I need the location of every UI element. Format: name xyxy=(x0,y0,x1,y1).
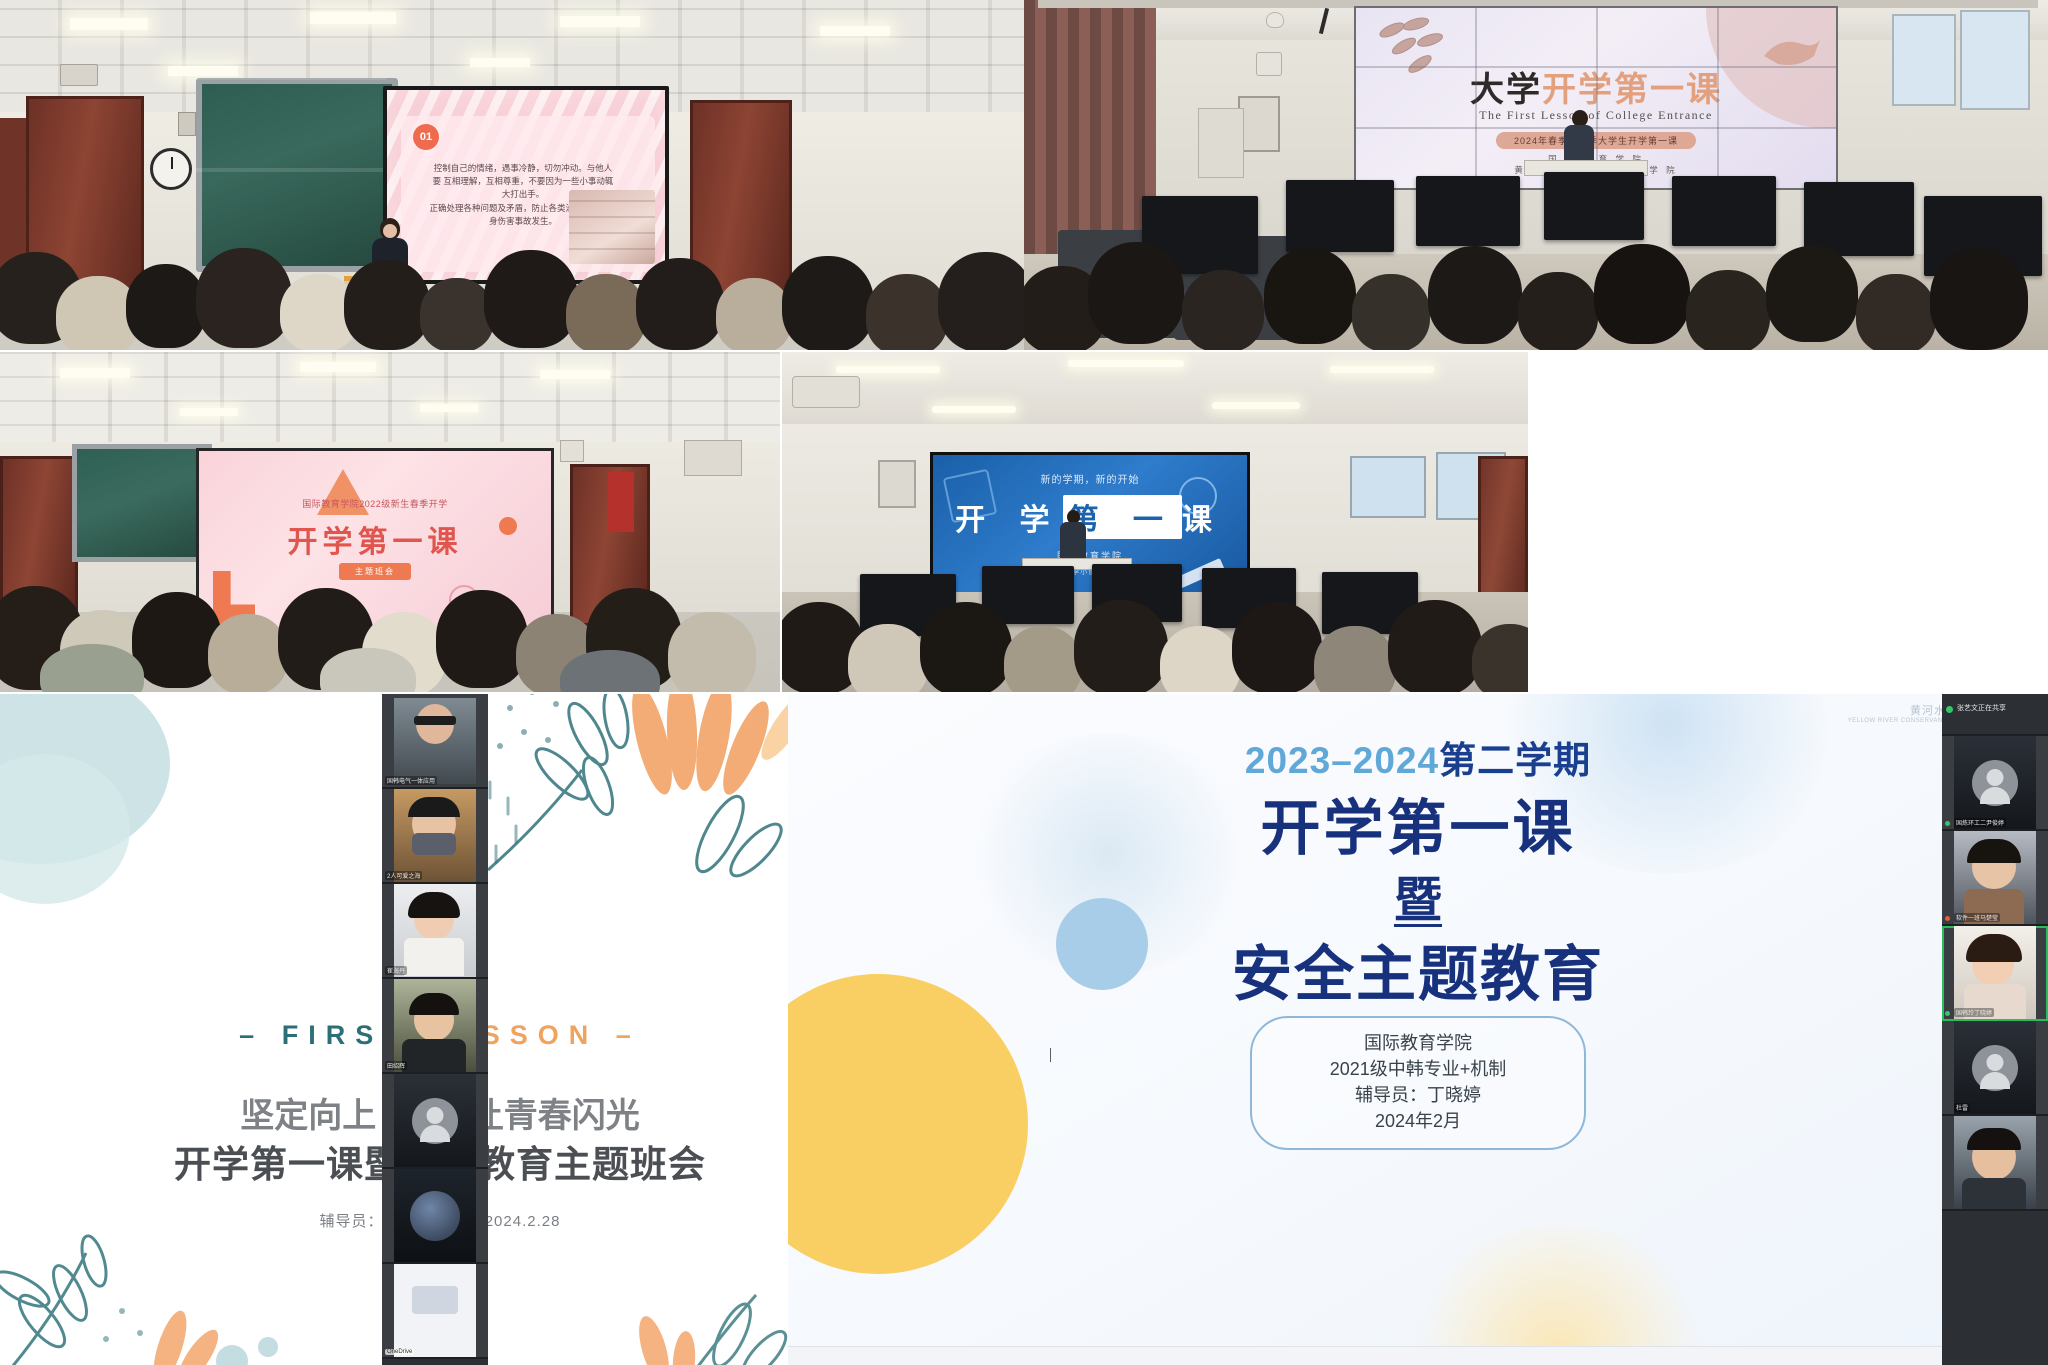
air-conditioner xyxy=(684,440,742,476)
slide-title-a: 开 学 xyxy=(955,504,1062,537)
participant-name: 田绍辉 xyxy=(385,1061,407,1070)
panel-computer-lab-led-wall: 大学开学第一课 The First Lesson of College Entr… xyxy=(1024,0,2048,350)
wall-switch xyxy=(178,112,196,136)
participant-name: 2人可爱之海 xyxy=(385,871,422,880)
photo-collage: 01 控制自己的情绪，遇事冷静，切勿冲动。与他人 要 互相理解，互相尊重，不要因… xyxy=(0,0,2048,1365)
ceiling-lamp xyxy=(70,18,148,30)
shared-screen-slide[interactable]: 黄河水利职业技术学院 YELLOW RIVER CONSERVANCY TECH… xyxy=(788,694,2048,1365)
avatar xyxy=(1972,760,2018,806)
presenter-figure xyxy=(1060,510,1086,560)
participant-name: 杜雷 xyxy=(1954,1103,1970,1112)
ceiling-lamp xyxy=(60,368,130,378)
wall-poster xyxy=(1350,456,1426,518)
curtain xyxy=(1024,0,1156,260)
slide-year-line: 2023–2024第二学期 xyxy=(788,730,2048,784)
slide-info-box: 国际教育学院 2021级中韩专业+机制 辅导员：丁晓婷 2024年2月 xyxy=(1250,1016,1586,1150)
participant-tile[interactable]: OneDrive xyxy=(382,1264,488,1359)
info-line: 辅导员：丁晓婷 xyxy=(1252,1082,1584,1108)
participant-name: 崔海丹 xyxy=(385,966,407,975)
panel-lecture-hall-pink-ppt: 01 控制自己的情绪，遇事冷静，切勿冲动。与他人 要 互相理解，互相尊重，不要因… xyxy=(0,0,1024,350)
ceiling-lamp xyxy=(470,58,530,67)
participant-tile[interactable] xyxy=(382,1074,488,1169)
ceiling-lamp xyxy=(540,370,610,379)
audience-crowd xyxy=(0,230,1024,350)
ceiling-lamp xyxy=(180,408,238,416)
circle-decor xyxy=(1398,1225,1718,1365)
ceiling-lamp xyxy=(420,404,478,412)
participant-name: 国炼环工二尹俊婷 xyxy=(1954,818,2006,827)
participant-tile[interactable]: 杜雷 xyxy=(1942,1021,2048,1116)
participant-name: 国韩玲丁晓婷 xyxy=(1954,1008,1994,1017)
ceiling-lamp xyxy=(300,362,376,372)
info-line: 2021级中韩专业+机制 xyxy=(1252,1056,1584,1082)
wall-cabinet xyxy=(1198,108,1244,178)
security-camera-icon xyxy=(1266,12,1284,28)
electrical-panel xyxy=(1238,96,1280,152)
audience-crowd xyxy=(1024,230,2048,350)
participant-filmstrip-right[interactable]: 张艺文正在共享 国炼环工二尹俊婷 软件一班马楚莹 xyxy=(1942,694,2048,1365)
mic-off-icon xyxy=(1945,916,1950,921)
kicker-prefix: – xyxy=(239,1020,264,1050)
slide-title-line1: 开学第一课 xyxy=(788,780,2048,867)
slide-title-line2-text: 暨 xyxy=(1394,874,1442,927)
participant-tile[interactable] xyxy=(1942,1116,2048,1211)
participant-tile[interactable]: 软件一班马楚莹 xyxy=(1942,831,2048,926)
slide-number-badge: 01 xyxy=(413,124,439,150)
participant-tile[interactable]: 2人可爱之海 xyxy=(382,789,488,884)
taskbar[interactable] xyxy=(788,1346,2048,1365)
wall-speaker xyxy=(1256,52,1282,76)
headline-left: 坚定向上 xyxy=(240,1097,376,1135)
slide-subtitle: 新的学期，新的开始 xyxy=(933,471,1247,486)
participant-tile[interactable]: 国韩电气一体应用 xyxy=(382,694,488,789)
term-label: 第二学期 xyxy=(1439,740,1591,781)
participant-tile[interactable]: 田绍辉 xyxy=(382,979,488,1074)
text-cursor-icon xyxy=(1050,1048,1051,1062)
participant-name: 国韩电气一体应用 xyxy=(385,776,437,785)
wall-poster xyxy=(1960,10,2030,110)
mic-on-icon xyxy=(1945,821,1950,826)
floral-decor-icon xyxy=(0,1161,302,1365)
circle-decor-yellow xyxy=(788,974,1028,1274)
panel-online-meeting: 国韩电气一体应用 2人可爱之海 崔海丹 田绍辉 xyxy=(382,694,2048,1365)
wall-poster xyxy=(1892,14,1956,106)
slide-title-line3: 安全主题教育 xyxy=(788,926,2048,1013)
ceiling-lamp xyxy=(560,16,640,27)
electrical-panel xyxy=(878,460,916,508)
sharing-label: 张艺文正在共享 xyxy=(1957,703,2006,713)
avatar xyxy=(1972,1045,2018,1091)
share-indicator-icon xyxy=(1946,706,1953,713)
slide-title-line2: 暨 xyxy=(788,860,2048,930)
cloud-icon xyxy=(412,1286,458,1314)
participant-tile[interactable]: 国炼环工二尹俊婷 xyxy=(1942,736,2048,831)
participant-tile[interactable]: 崔海丹 xyxy=(382,884,488,979)
ceiling-lamp xyxy=(820,26,890,36)
air-conditioner xyxy=(792,376,860,408)
blank-filler-area xyxy=(1528,352,2048,692)
wall-clock xyxy=(150,148,192,190)
ceiling-tile-lines xyxy=(0,352,780,448)
slide-line: 要 互相理解，互相尊重，不要因为一些小事动辄 xyxy=(415,175,631,188)
wall-speaker xyxy=(560,440,584,462)
slide-title: 开 学第 一课 xyxy=(933,495,1247,539)
green-chalkboard xyxy=(72,444,212,562)
participant-tile[interactable] xyxy=(382,1169,488,1264)
participant-name: 软件一班马楚莹 xyxy=(1954,913,2000,922)
participant-tile-active-speaker[interactable]: 国韩玲丁晓婷 xyxy=(1942,926,2048,1021)
wall-sign-red xyxy=(608,472,634,532)
slide-line: 控制自己的情绪，遇事冷静，切勿冲动。与他人 xyxy=(415,162,631,175)
mic-on-icon xyxy=(1945,1011,1950,1016)
panel-computer-lab-blue-first-lesson: 新的学期，新的开始 开 学第 一课 国际教育学院 辅导员：李小丽 2024年3月 xyxy=(782,352,1528,692)
audience-crowd xyxy=(782,572,1528,692)
ceiling-lamp xyxy=(168,66,238,76)
audience-crowd xyxy=(0,552,780,692)
year-range: 2023–2024 xyxy=(1245,740,1439,781)
info-line: 国际教育学院 xyxy=(1252,1030,1584,1056)
slide-title-b: 课 xyxy=(1182,504,1225,537)
info-line: 2024年2月 xyxy=(1252,1108,1584,1134)
panel-classroom-pink-first-lesson: 国际教育学院2022级新生春季开学 开学第一课 主题班会 xyxy=(0,352,780,692)
wall-speaker xyxy=(60,64,98,86)
slide-subtitle: 国际教育学院2022级新生春季开学 xyxy=(199,497,551,510)
avatar xyxy=(412,1098,458,1144)
participant-filmstrip-left[interactable]: 国韩电气一体应用 2人可爱之海 崔海丹 田绍辉 xyxy=(382,694,488,1365)
participant-name: OneDrive xyxy=(385,1349,414,1355)
sharing-status-row: 张艺文正在共享 xyxy=(1942,694,2048,736)
ceiling-lamp xyxy=(310,12,396,24)
